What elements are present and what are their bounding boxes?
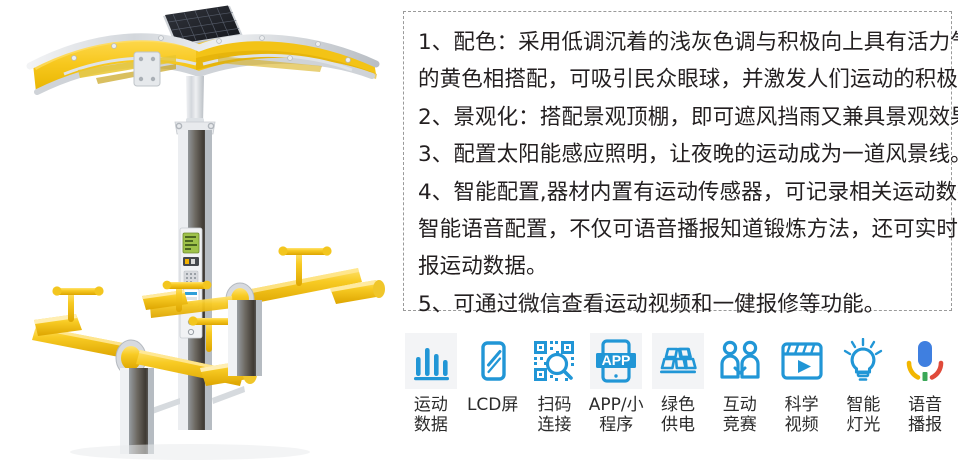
qr-scan-icon	[528, 333, 580, 389]
feature-item-label: 科学 视频	[785, 395, 819, 435]
feature-item-label: 互动 竞赛	[723, 395, 757, 435]
app-tablet-icon: APP	[590, 333, 642, 389]
feature-item-label: 绿色 供电	[661, 395, 695, 435]
feature-line-6: 智能语音配置，不仅可语音播报知道锻炼方法，还可实时播	[418, 211, 939, 248]
feature-line-5: 4、智能配置,器材内置有运动传感器，可记录相关运动数据。	[418, 174, 939, 211]
feature-item-voice-broadcast[interactable]: 语音 播报	[894, 333, 956, 435]
feature-item-lcd-screen[interactable]: LCD屏	[462, 333, 524, 415]
feature-item-smart-light[interactable]: 智能 灯光	[832, 333, 894, 435]
product-illustration	[0, 0, 395, 463]
microphone-icon	[899, 333, 951, 389]
feature-item-label: APP/小 程序	[589, 395, 644, 435]
lcd-screen-icon	[467, 333, 519, 389]
two-people-icon	[714, 333, 766, 389]
feature-text-card: 1、配色：采用低调沉着的浅灰色调与积极向上具有活力气息 的黄色相搭配，可吸引民众…	[403, 11, 952, 311]
feature-icon-strip: 运动 数据 LCD屏	[400, 333, 956, 459]
solar-panel-icon	[652, 333, 704, 389]
feature-line-4: 3、配置太阳能感应照明，让夜晚的运动成为一道风景线。	[418, 136, 939, 173]
feature-item-green-power[interactable]: 绿色 供电	[647, 333, 709, 435]
feature-item-app-miniprogram[interactable]: APP APP/小 程序	[585, 333, 647, 435]
feature-item-interactive-contest[interactable]: 互动 竞赛	[709, 333, 771, 435]
feature-item-label: 智能 灯光	[846, 395, 880, 435]
feature-line-8: 5、可通过微信查看运动视频和一健报修等功能。	[418, 286, 939, 323]
feature-line-7: 报运动数据。	[418, 248, 939, 285]
page-root: 1、配色：采用低调沉着的浅灰色调与积极向上具有活力气息 的黄色相搭配，可吸引民众…	[0, 0, 958, 463]
lightbulb-icon	[837, 333, 889, 389]
feature-item-qr-connect[interactable]: 扫码 连接	[524, 333, 586, 435]
feature-item-label: 扫码 连接	[537, 395, 571, 435]
bar-chart-icon	[405, 333, 457, 389]
product-image-pane	[0, 0, 395, 463]
feature-item-label: 运动 数据	[414, 395, 448, 435]
feature-line-3: 2、景观化：搭配景观顶棚，即可遮风挡雨又兼具景观效果。	[418, 99, 939, 136]
feature-item-sport-data[interactable]: 运动 数据	[400, 333, 462, 435]
video-play-icon	[776, 333, 828, 389]
feature-line-2: 的黄色相搭配，可吸引民众眼球，并激发人们运动的积极性。	[418, 61, 939, 98]
feature-item-label: 语音 播报	[908, 395, 942, 435]
feature-item-label: LCD屏	[467, 395, 518, 415]
feature-item-science-video[interactable]: 科学 视频	[771, 333, 833, 435]
feature-line-1: 1、配色：采用低调沉着的浅灰色调与积极向上具有活力气息	[418, 24, 939, 61]
svg-text:APP: APP	[602, 352, 631, 368]
